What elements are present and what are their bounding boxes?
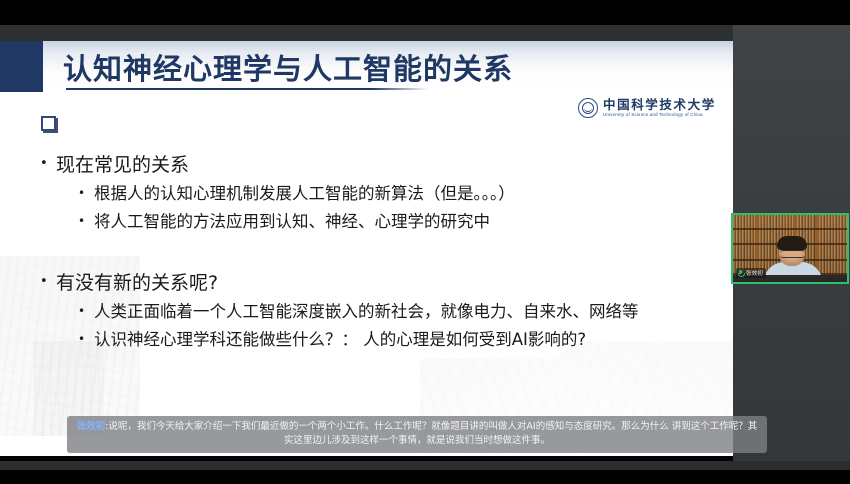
participant-hair [777,236,807,250]
glasses-icon [780,250,805,258]
bullet-level2: 将人工智能的方法应用到认知、神经、心理学的研究中 [38,209,718,234]
bullet-level2: 人类正面临着一个人工智能深度嵌入的新社会，就像电力、自来水、网络等 [38,299,718,324]
window-bottom-letterbox [0,470,850,484]
caption-speaker-name: 张效初 [77,421,106,432]
bullet-group-spacer [38,234,718,270]
participant-video-tile[interactable]: 张效初 [731,213,849,284]
shared-slide: 认知神经心理学与人工智能的关系 中国科学技术大学 University of S… [0,41,733,456]
bullet-level1: 现在常见的关系 [38,152,718,178]
live-caption: 张效初:说呢，我们今天给大家介绍一下我们最近做的一个两个小工作。什么工作呢？就像… [67,416,767,453]
bullet-level2: 认识神经心理学科还能做些什么？： 人的心理是如何受到AI影响的? [38,327,718,352]
slide-title: 认知神经心理学与人工智能的关系 [63,46,513,88]
microphone-on-icon [737,269,744,277]
window-top-letterbox [0,0,850,25]
bullet-list: 现在常见的关系 根据人的认知心理机制发展人工智能的新算法（但是。。。） 将人工智… [38,152,718,352]
bullet-level2: 根据人的认知心理机制发展人工智能的新算法（但是。。。） [38,181,718,206]
empty-square-bullet-icon [41,116,56,131]
participant-name-label: 张效初 [746,269,763,277]
meeting-toolbar-strip[interactable] [0,25,733,41]
title-underline-fade [371,88,429,90]
meeting-window: 认知神经心理学与人工智能的关系 中国科学技术大学 University of S… [0,0,850,484]
bullet-level1: 有没有新的关系呢? [38,270,718,296]
title-accent-block [0,41,43,92]
participant-name-chip: 张效初 [736,268,766,278]
title-underline [66,88,371,90]
slide-body: 现在常见的关系 根据人的认知心理机制发展人工智能的新算法（但是。。。） 将人工智… [0,92,733,456]
caption-line-1: 说呢，我们今天给大家介绍一下我们最近做的一个两个小工作。什么工作呢？就像题目讲的… [108,421,668,432]
